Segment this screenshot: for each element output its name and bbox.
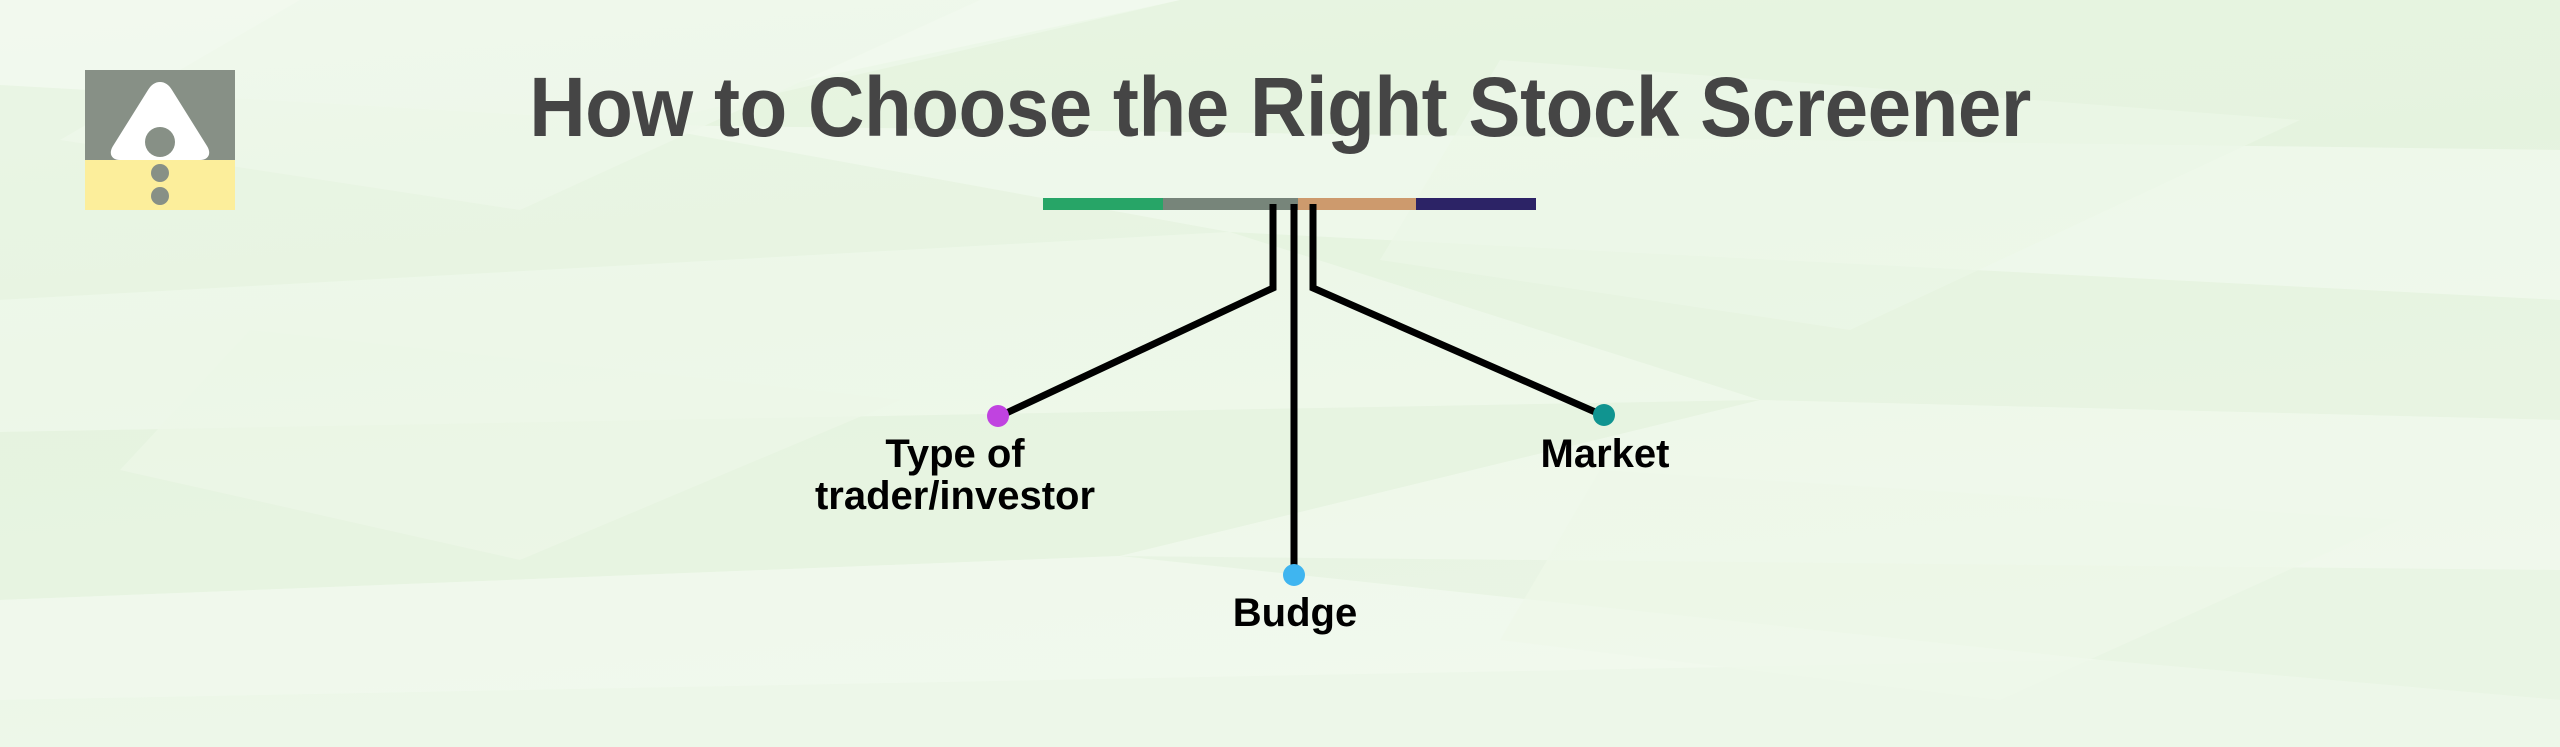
branch-label-budget: Budge (1165, 592, 1425, 634)
slide-canvas: How to Choose the Right Stock Screener T… (0, 0, 2560, 747)
branch-label-trader: Type of trader/investor (755, 433, 1155, 517)
page-title: How to Choose the Right Stock Screener (90, 55, 2471, 159)
branch-label-market: Market (1475, 433, 1735, 475)
